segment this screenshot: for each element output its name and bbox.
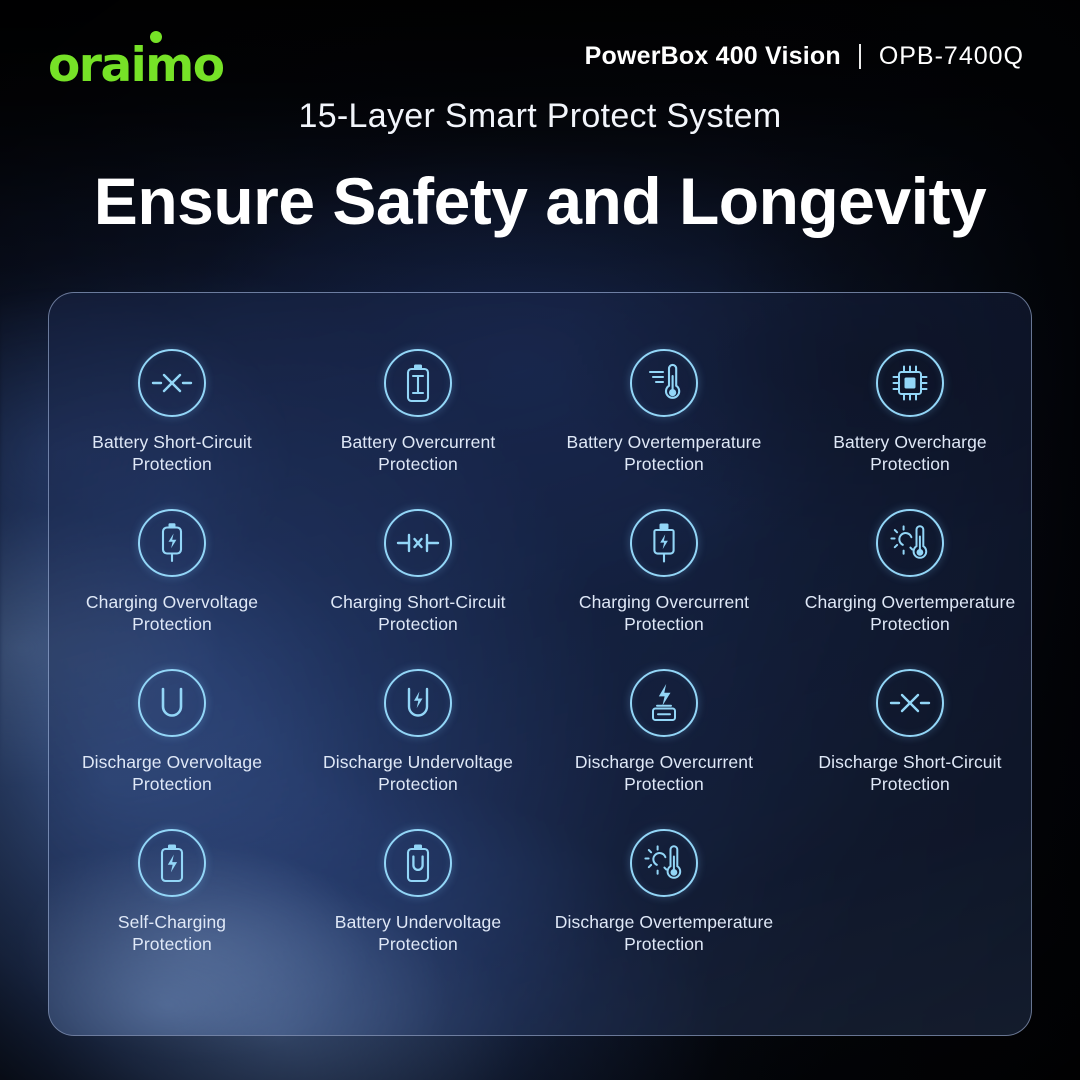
charging-connector-bolt-icon bbox=[630, 509, 698, 577]
protection-label: Charging Overvoltage Protection bbox=[86, 591, 258, 636]
battery-letter-u-icon bbox=[384, 829, 452, 897]
protection-item: Discharge Undervoltage Protection bbox=[295, 669, 541, 829]
thermometer-heat-icon bbox=[630, 349, 698, 417]
protection-label: Battery Overcurrent Protection bbox=[341, 431, 496, 476]
poster-header: oraimo PowerBox 400 Vision OPB-7400Q 15-… bbox=[0, 0, 1080, 260]
page-title: Ensure Safety and Longevity bbox=[0, 163, 1080, 239]
terminals-cross-icon bbox=[384, 509, 452, 577]
protection-label: Charging Overtemperature Protection bbox=[805, 591, 1016, 636]
oraimo-logo-text: oraimo bbox=[48, 38, 224, 93]
subheadline: 15-Layer Smart Protect System bbox=[0, 97, 1080, 136]
protection-label: Discharge Overtemperature Protection bbox=[555, 911, 773, 956]
protection-label: Battery Overtemperature Protection bbox=[567, 431, 762, 476]
protection-label: Battery Short-Circuit Protection bbox=[92, 431, 252, 476]
protection-card: Battery Short-Circuit Protection Battery… bbox=[48, 292, 1032, 1036]
protection-label: Charging Short-Circuit Protection bbox=[330, 591, 505, 636]
oraimo-logo-dot bbox=[150, 31, 162, 43]
protection-item: Battery Overcurrent Protection bbox=[295, 349, 541, 509]
protection-item: Discharge Short-Circuit Protection bbox=[787, 669, 1032, 829]
product-model-line: PowerBox 400 Vision OPB-7400Q bbox=[585, 42, 1024, 71]
protection-label: Discharge Undervoltage Protection bbox=[323, 751, 513, 796]
short-circuit-icon bbox=[876, 669, 944, 737]
protection-item: Charging Overtemperature Protection bbox=[787, 509, 1032, 669]
protection-item: Battery Undervoltage Protection bbox=[295, 829, 541, 989]
chip-icon bbox=[876, 349, 944, 417]
bolt-over-battery-icon bbox=[630, 669, 698, 737]
protection-label: Discharge Short-Circuit Protection bbox=[818, 751, 1001, 796]
protection-label: Charging Overcurrent Protection bbox=[579, 591, 749, 636]
letter-u-icon bbox=[138, 669, 206, 737]
oraimo-logo: oraimo bbox=[48, 42, 224, 89]
sun-thermometer-icon bbox=[876, 509, 944, 577]
protection-item: Discharge Overvoltage Protection bbox=[49, 669, 295, 829]
protection-label: Battery Overcharge Protection bbox=[833, 431, 987, 476]
protection-item: Charging Overvoltage Protection bbox=[49, 509, 295, 669]
battery-bolt-icon bbox=[138, 829, 206, 897]
protection-item: Battery Short-Circuit Protection bbox=[49, 349, 295, 509]
protection-item: Battery Overtemperature Protection bbox=[541, 349, 787, 509]
battery-current-icon bbox=[384, 349, 452, 417]
protection-label: Discharge Overvoltage Protection bbox=[82, 751, 262, 796]
product-name: PowerBox 400 Vision bbox=[585, 42, 841, 71]
protection-grid: Battery Short-Circuit Protection Battery… bbox=[49, 349, 1032, 989]
protection-item: Discharge Overcurrent Protection bbox=[541, 669, 787, 829]
letter-u-bolt-icon bbox=[384, 669, 452, 737]
header-divider bbox=[859, 44, 861, 69]
protection-label: Discharge Overcurrent Protection bbox=[575, 751, 753, 796]
battery-plug-bolt-icon bbox=[138, 509, 206, 577]
protection-item: Charging Short-Circuit Protection bbox=[295, 509, 541, 669]
poster-root: oraimo PowerBox 400 Vision OPB-7400Q 15-… bbox=[0, 0, 1080, 1080]
protection-item: Self-Charging Protection bbox=[49, 829, 295, 989]
protection-item: Discharge Overtemperature Protection bbox=[541, 829, 787, 989]
short-circuit-icon bbox=[138, 349, 206, 417]
model-number: OPB-7400Q bbox=[879, 42, 1024, 71]
sun-thermometer-icon bbox=[630, 829, 698, 897]
protection-item: Battery Overcharge Protection bbox=[787, 349, 1032, 509]
protection-label: Self-Charging Protection bbox=[118, 911, 226, 956]
protection-label: Battery Undervoltage Protection bbox=[335, 911, 501, 956]
protection-item: Charging Overcurrent Protection bbox=[541, 509, 787, 669]
